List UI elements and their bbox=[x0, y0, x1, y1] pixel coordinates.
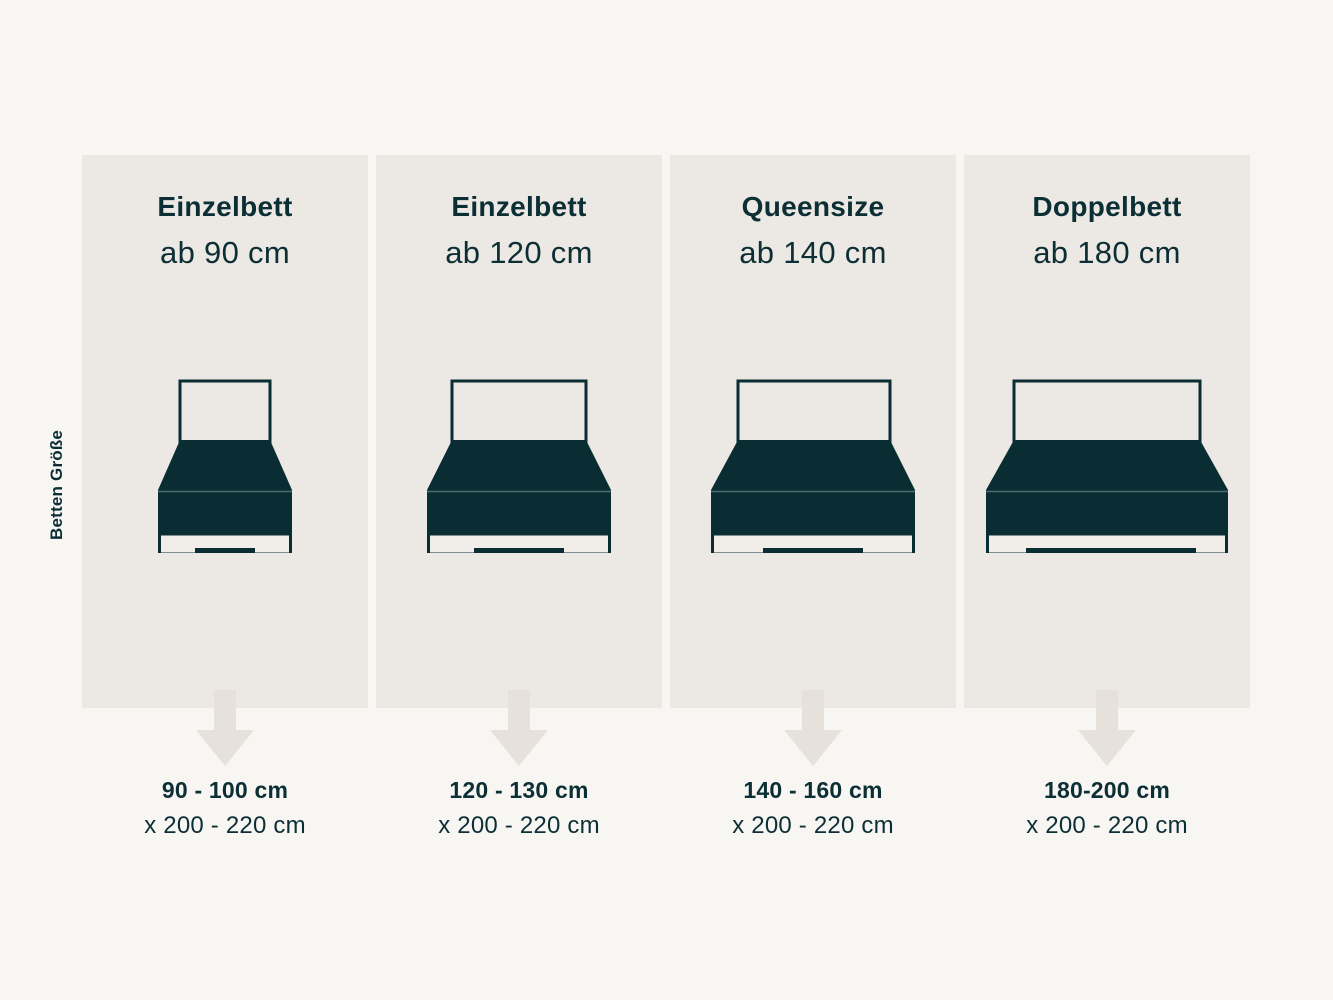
dimension-width-label: 140 - 160 cm bbox=[670, 775, 956, 805]
size-panel-doppelbett-180[interactable]: Doppelbett ab 180 cm bbox=[964, 155, 1250, 708]
bed-illustration-wrap bbox=[670, 378, 956, 568]
dimension-length-label: x 200 - 220 cm bbox=[964, 805, 1250, 847]
panel-subtitle: ab 120 cm bbox=[376, 235, 662, 271]
dimension-length-label: x 200 - 220 cm bbox=[376, 805, 662, 847]
panel-title: Einzelbett bbox=[376, 191, 662, 223]
axis-label-betten-groesse: Betten Größe bbox=[44, 310, 70, 540]
dimension-length-label: x 200 - 220 cm bbox=[670, 805, 956, 847]
bed-illustration-wrap bbox=[82, 378, 368, 568]
panel-title: Einzelbett bbox=[82, 191, 368, 223]
dimension-length-label: x 200 - 220 cm bbox=[82, 805, 368, 847]
panel-subtitle: ab 140 cm bbox=[670, 235, 956, 271]
arrow-down-icon bbox=[196, 690, 254, 768]
bed-size-infographic: Betten Größe Einzelbett ab 90 cm bbox=[0, 0, 1333, 1000]
bed-icon bbox=[976, 378, 1238, 553]
bed-icon bbox=[145, 378, 305, 553]
dimension-caption-row: 90 - 100 cm x 200 - 220 cm 120 - 130 cm … bbox=[82, 775, 1250, 875]
dimension-caption-queensize-140: 140 - 160 cm x 200 - 220 cm bbox=[670, 775, 956, 875]
panel-title: Queensize bbox=[670, 191, 956, 223]
arrow-down-icon bbox=[490, 690, 548, 768]
bed-icon bbox=[698, 378, 928, 553]
dimension-caption-einzelbett-90: 90 - 100 cm x 200 - 220 cm bbox=[82, 775, 368, 875]
arrow-down-icon bbox=[1078, 690, 1136, 768]
bed-icon bbox=[414, 378, 624, 553]
panel-subtitle: ab 180 cm bbox=[964, 235, 1250, 271]
panel-subtitle: ab 90 cm bbox=[82, 235, 368, 271]
size-panel-einzelbett-90[interactable]: Einzelbett ab 90 cm bbox=[82, 155, 368, 708]
dimension-width-label: 90 - 100 cm bbox=[82, 775, 368, 805]
panel-title: Doppelbett bbox=[964, 191, 1250, 223]
bed-illustration-wrap bbox=[376, 378, 662, 568]
dimension-width-label: 180-200 cm bbox=[964, 775, 1250, 805]
bed-illustration-wrap bbox=[964, 378, 1250, 568]
size-panel-queensize-140[interactable]: Queensize ab 140 cm bbox=[670, 155, 956, 708]
size-panel-row: Einzelbett ab 90 cm bbox=[82, 155, 1250, 708]
arrow-down-icon bbox=[784, 690, 842, 768]
dimension-caption-einzelbett-120: 120 - 130 cm x 200 - 220 cm bbox=[376, 775, 662, 875]
dimension-caption-doppelbett-180: 180-200 cm x 200 - 220 cm bbox=[964, 775, 1250, 875]
size-panel-einzelbett-120[interactable]: Einzelbett ab 120 cm bbox=[376, 155, 662, 708]
dimension-width-label: 120 - 130 cm bbox=[376, 775, 662, 805]
